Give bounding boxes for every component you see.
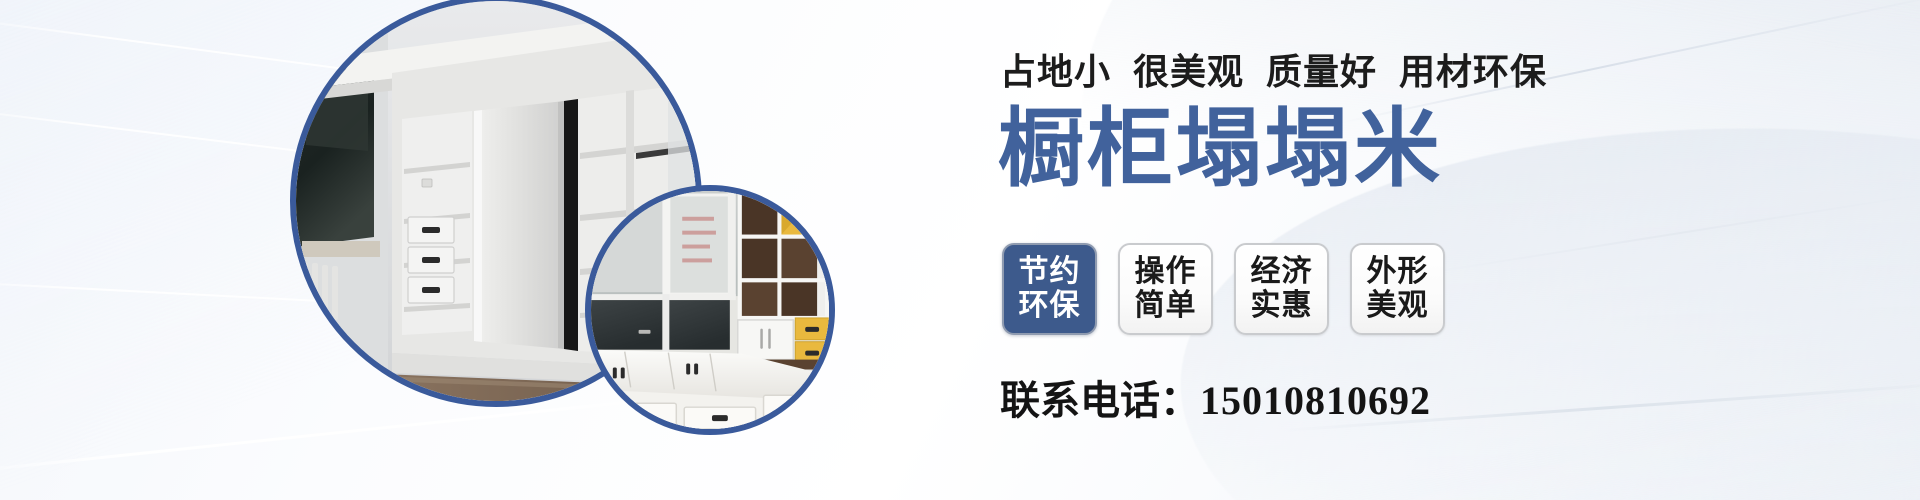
- banner-copy: 占地小很美观质量好用材环保 橱柜塌塌米 节约 环保 操作 简单 经济 实惠 外形…: [1000, 0, 1780, 500]
- page-title: 橱柜塌塌米: [998, 104, 1443, 194]
- contact-label: 联系电话：: [1000, 378, 1200, 424]
- feature-badge-simple[interactable]: 操作 简单: [1118, 243, 1213, 335]
- badge-line-2: 实惠: [1251, 289, 1313, 323]
- badge-line-2: 简单: [1135, 289, 1197, 323]
- tatami-photo-illustration: [591, 191, 829, 429]
- badge-line-2: 美观: [1367, 289, 1429, 323]
- contact-phone-number[interactable]: 15010810692: [1200, 378, 1431, 423]
- tagline-item-2: 很美观: [1133, 52, 1244, 93]
- photo-circle-tatami: [585, 185, 835, 435]
- badge-line-1: 经济: [1251, 255, 1313, 289]
- tagline-item-4: 用材环保: [1399, 52, 1547, 93]
- tagline-item-1: 占地小: [1000, 52, 1111, 93]
- promo-banner: 占地小很美观质量好用材环保 橱柜塌塌米 节约 环保 操作 简单 经济 实惠 外形…: [0, 0, 1920, 500]
- contact-line: 联系电话：15010810692: [1000, 368, 1431, 426]
- tagline-row: 占地小很美观质量好用材环保: [1000, 43, 1547, 95]
- badge-line-1: 外形: [1367, 255, 1429, 289]
- background-streak: [0, 392, 708, 474]
- feature-badge-eco[interactable]: 节约 环保: [1002, 243, 1097, 335]
- feature-badge-row: 节约 环保 操作 简单 经济 实惠 外形 美观: [1002, 243, 1445, 335]
- badge-line-1: 操作: [1135, 255, 1197, 289]
- badge-line-2: 环保: [1019, 289, 1081, 323]
- feature-badge-appearance[interactable]: 外形 美观: [1350, 243, 1445, 335]
- badge-line-1: 节约: [1019, 255, 1081, 289]
- tagline-item-3: 质量好: [1266, 52, 1377, 93]
- feature-badge-economical[interactable]: 经济 实惠: [1234, 243, 1329, 335]
